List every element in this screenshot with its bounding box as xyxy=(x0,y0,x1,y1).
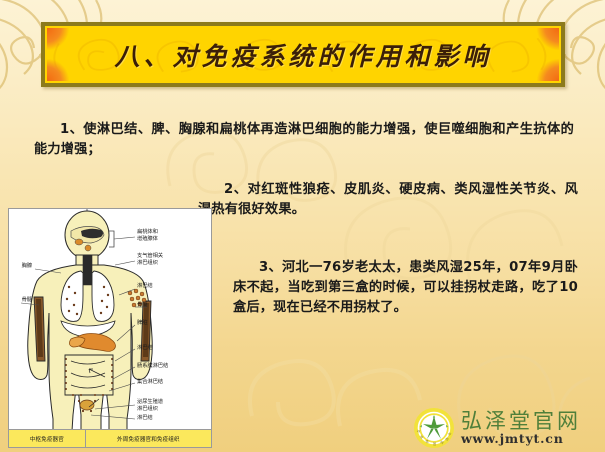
diagram-label-urogenital-lymphoid-tissue: 泌尿生殖道 淋巴组织 xyxy=(137,399,163,413)
diagram-caption-bar: 中枢免疫器官 外周免疫器官和免疫组织 xyxy=(9,429,211,447)
diagram-label-tonsils: 扁桃体和 增殖腺体 xyxy=(137,229,158,243)
diagram-label-lymph-node-mid: 淋巴结 xyxy=(137,345,153,352)
diagram-label-bone-marrow-left: 骨髓 xyxy=(8,297,32,304)
immune-system-diagram: 胸腺 骨髓 扁桃体和 增殖腺体 支气管相关 淋巴组织 淋巴结 骨髓 脾脏 淋巴结… xyxy=(8,208,212,448)
brand-logo-icon: 弘 泽 堂 官 网 药 业 xyxy=(413,407,455,449)
paragraph-1: 1、使淋巴结、脾、胸腺和扁桃体再造淋巴细胞的能力增强，使巨噬细胞和产生抗体的能力… xyxy=(34,120,574,160)
diagram-label-peyers-patches: 集合淋巴结 xyxy=(137,379,163,386)
title-banner: 八、对免疫系统的作用和影响 xyxy=(41,22,565,87)
diagram-label-mesenteric-lymph-node: 肠系膜淋巴结 xyxy=(137,363,168,370)
diagram-label-balt: 支气管相关 淋巴组织 xyxy=(137,253,163,267)
watermark-url: www.jmtyt.cn xyxy=(461,432,581,446)
watermark-text: 弘泽堂官网 www.jmtyt.cn xyxy=(461,410,581,446)
diagram-figure xyxy=(9,209,212,448)
paragraph-2: 2、对红斑性狼疮、皮肌炎、硬皮病、类风湿性关节炎、风湿热有很好效果。 xyxy=(198,180,578,220)
page-title: 八、对免疫系统的作用和影响 xyxy=(45,26,561,83)
caption-peripheral-immune-organs: 外周免疫器官和免疫组织 xyxy=(86,430,211,447)
background-texture-blob xyxy=(236,330,426,440)
diagram-label-bone-marrow-right: 骨髓 xyxy=(137,302,147,309)
presentation-slide: 八、对免疫系统的作用和影响 1、使淋巴结、脾、胸腺和扁桃体再造淋巴细胞的能力增强… xyxy=(0,0,605,452)
diagram-label-lymph-node-lower: 淋巴结 xyxy=(137,415,153,422)
svg-text:官: 官 xyxy=(433,441,436,446)
diagram-label-lymph-node-upper: 淋巴结 xyxy=(137,283,153,290)
caption-central-immune-organs: 中枢免疫器官 xyxy=(9,430,86,447)
watermark: 弘 泽 堂 官 网 药 业 弘泽堂官网 www.jmtyt.cn xyxy=(413,406,599,450)
diagram-label-spleen: 脾脏 xyxy=(137,320,147,327)
watermark-brand-name: 弘泽堂官网 xyxy=(461,410,581,432)
diagram-label-thymus: 胸腺 xyxy=(8,263,32,270)
paragraph-3: 3、河北一76岁老太太，患类风湿25年，07年9月卧床不起，当吃到第三盒的时候，… xyxy=(233,258,578,318)
